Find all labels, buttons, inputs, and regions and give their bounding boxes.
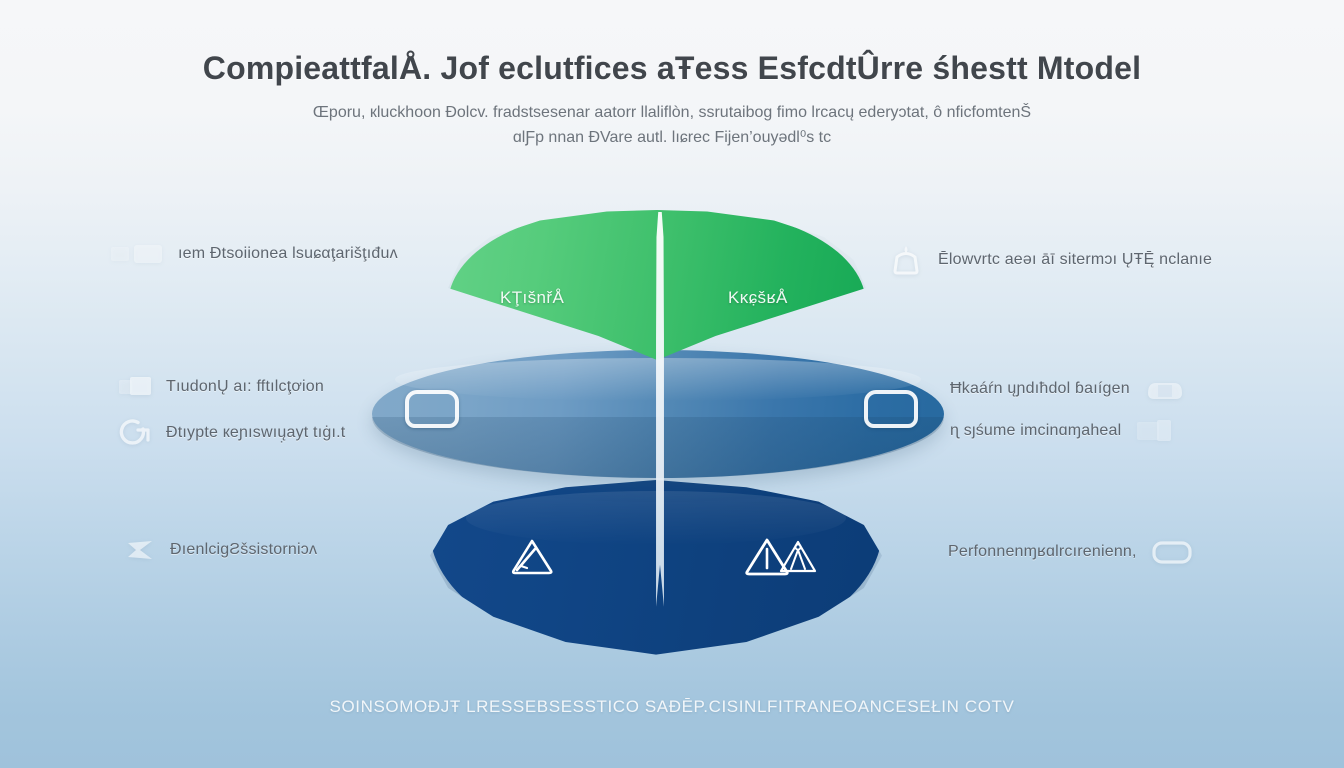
side-label-left-4-text: ĐıenlciɡƧšsistorniɔʌ bbox=[170, 541, 317, 559]
side-label-left-2[interactable]: TıudonŲ aı: fftılcţơion bbox=[118, 375, 324, 399]
ghost-pill-icon bbox=[1151, 538, 1193, 566]
ghost-refresh-icon bbox=[118, 418, 152, 448]
ghost-arrow-icon bbox=[126, 538, 156, 562]
triangle-pen-icon bbox=[509, 536, 555, 576]
rounded-trapezoid-icon bbox=[405, 390, 459, 428]
ghost-card-icon bbox=[118, 375, 152, 399]
side-label-right-1[interactable]: Ēlowvrtc aeəı āī sitermɔı ŲŦĘ̄ nclanıe bbox=[888, 243, 1212, 277]
side-label-left-2-text: TıudonŲ aı: fftılcţơion bbox=[166, 378, 324, 396]
top-layer-label-left: KŢıšnřÅ bbox=[500, 288, 564, 308]
ghost-printer-icon bbox=[1144, 375, 1186, 403]
side-label-left-1-text: ıem Đtsoiionea lsuɕαţarišţıđuʌ bbox=[178, 245, 398, 263]
ghost-block-icon bbox=[110, 243, 164, 265]
top-layer-label-right: Kĸɕ̣šʁÅ bbox=[728, 288, 788, 308]
ghost-cup-icon bbox=[888, 243, 924, 277]
side-label-right-4[interactable]: Perfonnenɱʁɑlrcırenienn, bbox=[948, 538, 1193, 566]
side-label-left-3-text: Đtıypte кeɲıswıų̣ayt tıġı.t bbox=[166, 424, 345, 442]
side-label-right-3[interactable]: ɳ sȷśume imcinɑɱaheal bbox=[950, 418, 1173, 444]
side-label-right-4-text: Perfonnenɱʁɑlrcırenienn, bbox=[948, 543, 1137, 561]
side-label-right-2-text: Ħkaáŕn ųɲdıħdol ɓaıígen bbox=[950, 380, 1130, 398]
side-label-right-2[interactable]: Ħkaáŕn ųɲdıħdol ɓaıígen bbox=[950, 375, 1186, 403]
side-label-right-3-text: ɳ sȷśume imcinɑɱaheal bbox=[950, 422, 1121, 440]
bottom-caption: SOINSOMOĐJŦ LRESSEBSESSTICO SAĐĒP.CISINL… bbox=[0, 697, 1344, 717]
ghost-badge-icon bbox=[1135, 418, 1173, 444]
side-label-left-1[interactable]: ıem Đtsoiionea lsuɕαţarišţıđuʌ bbox=[110, 243, 398, 265]
triangle-compass-icon bbox=[778, 538, 818, 574]
side-label-left-4[interactable]: ĐıenlciɡƧšsistorniɔʌ bbox=[126, 538, 317, 562]
side-label-right-1-text: Ēlowvrtc aeəı āī sitermɔı ŲŦĘ̄ nclanıe bbox=[938, 251, 1212, 269]
side-label-left-3[interactable]: Đtıypte кeɲıswıų̣ayt tıġı.t bbox=[118, 418, 345, 448]
rounded-trapezoid-icon bbox=[864, 390, 918, 428]
diagram-canvas: CompieattfalÅ. Jof eclutfices aŦess Esfc… bbox=[0, 0, 1344, 768]
